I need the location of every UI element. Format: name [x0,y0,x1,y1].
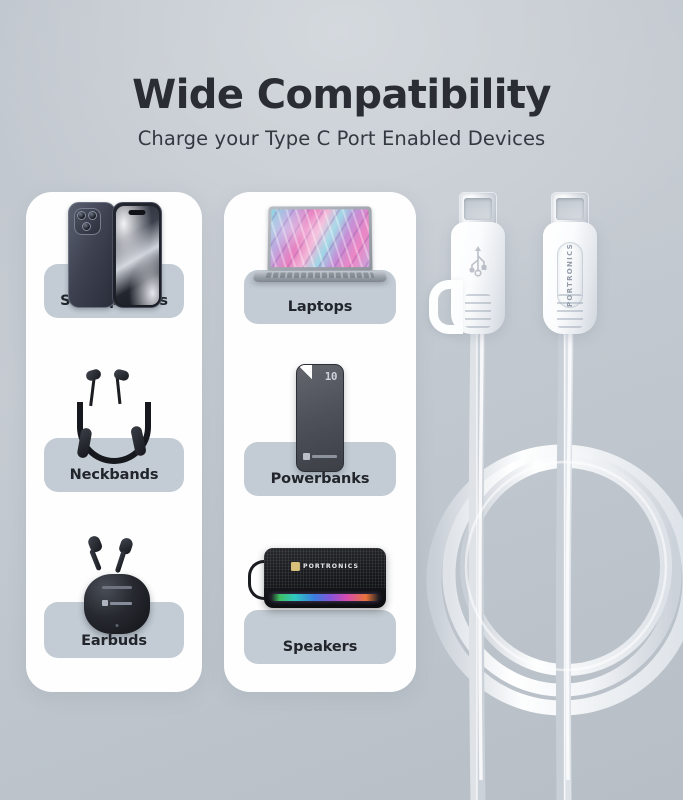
tile-label-laptops: Laptops [288,299,353,324]
tile-powerbanks[interactable]: Powerbanks 10 [224,360,416,526]
tile-speakers[interactable]: Speakers PORTRONICS [224,526,416,692]
speaker-brand-text: PORTRONICS [303,563,359,570]
product-banner: Wide Compatibility Charge your Type C Po… [0,0,683,800]
charging-case [84,574,150,634]
tile-earbuds[interactable]: Earbuds [26,526,202,692]
dynamic-island [129,210,146,215]
phone-back [68,202,116,308]
brand-logo-icon [102,600,132,606]
header-block: Wide Compatibility Charge your Type C Po… [0,74,683,150]
brand-logo-icon [303,453,337,460]
compatibility-card-right: Laptops Powerbanks 10 Speake [224,192,416,692]
usb-c-cable: PORTRONICS [416,180,683,800]
powerbank-icon: 10 [288,364,352,472]
tile-label-powerbanks: Powerbanks [271,471,370,496]
phone-front [112,202,162,308]
earbuds-icon [62,532,166,644]
page-subtitle: Charge your Type C Port Enabled Devices [0,127,683,150]
grip-ridges-left [465,294,491,328]
usb-trident-icon [467,244,489,278]
page-title: Wide Compatibility [0,74,683,116]
capacity-badge: 10 [325,370,337,383]
rgb-light-strip [271,594,379,601]
tile-smartphones[interactable]: Smartphones [26,192,202,360]
tile-neckbands[interactable]: Neckbands [26,360,202,526]
tile-laptops[interactable]: Laptops [224,192,416,360]
neckband-icon [59,368,169,478]
speaker-brand-logo: PORTRONICS [291,562,359,571]
cable-tie-strap [429,280,463,334]
grip-ridges-right [557,294,583,328]
compatibility-card-left: Smartphones Neckbands [26,192,202,692]
usb-c-tip-left [459,192,497,226]
camera-module-icon [74,208,101,235]
laptop-wallpaper [271,209,370,267]
usb-c-tip-right [551,192,589,226]
tile-label-speakers: Speakers [283,639,358,664]
smartphone-icon [66,202,162,310]
laptop-icon [254,206,386,302]
keyboard [266,272,375,278]
speaker-icon: PORTRONICS [248,544,392,624]
